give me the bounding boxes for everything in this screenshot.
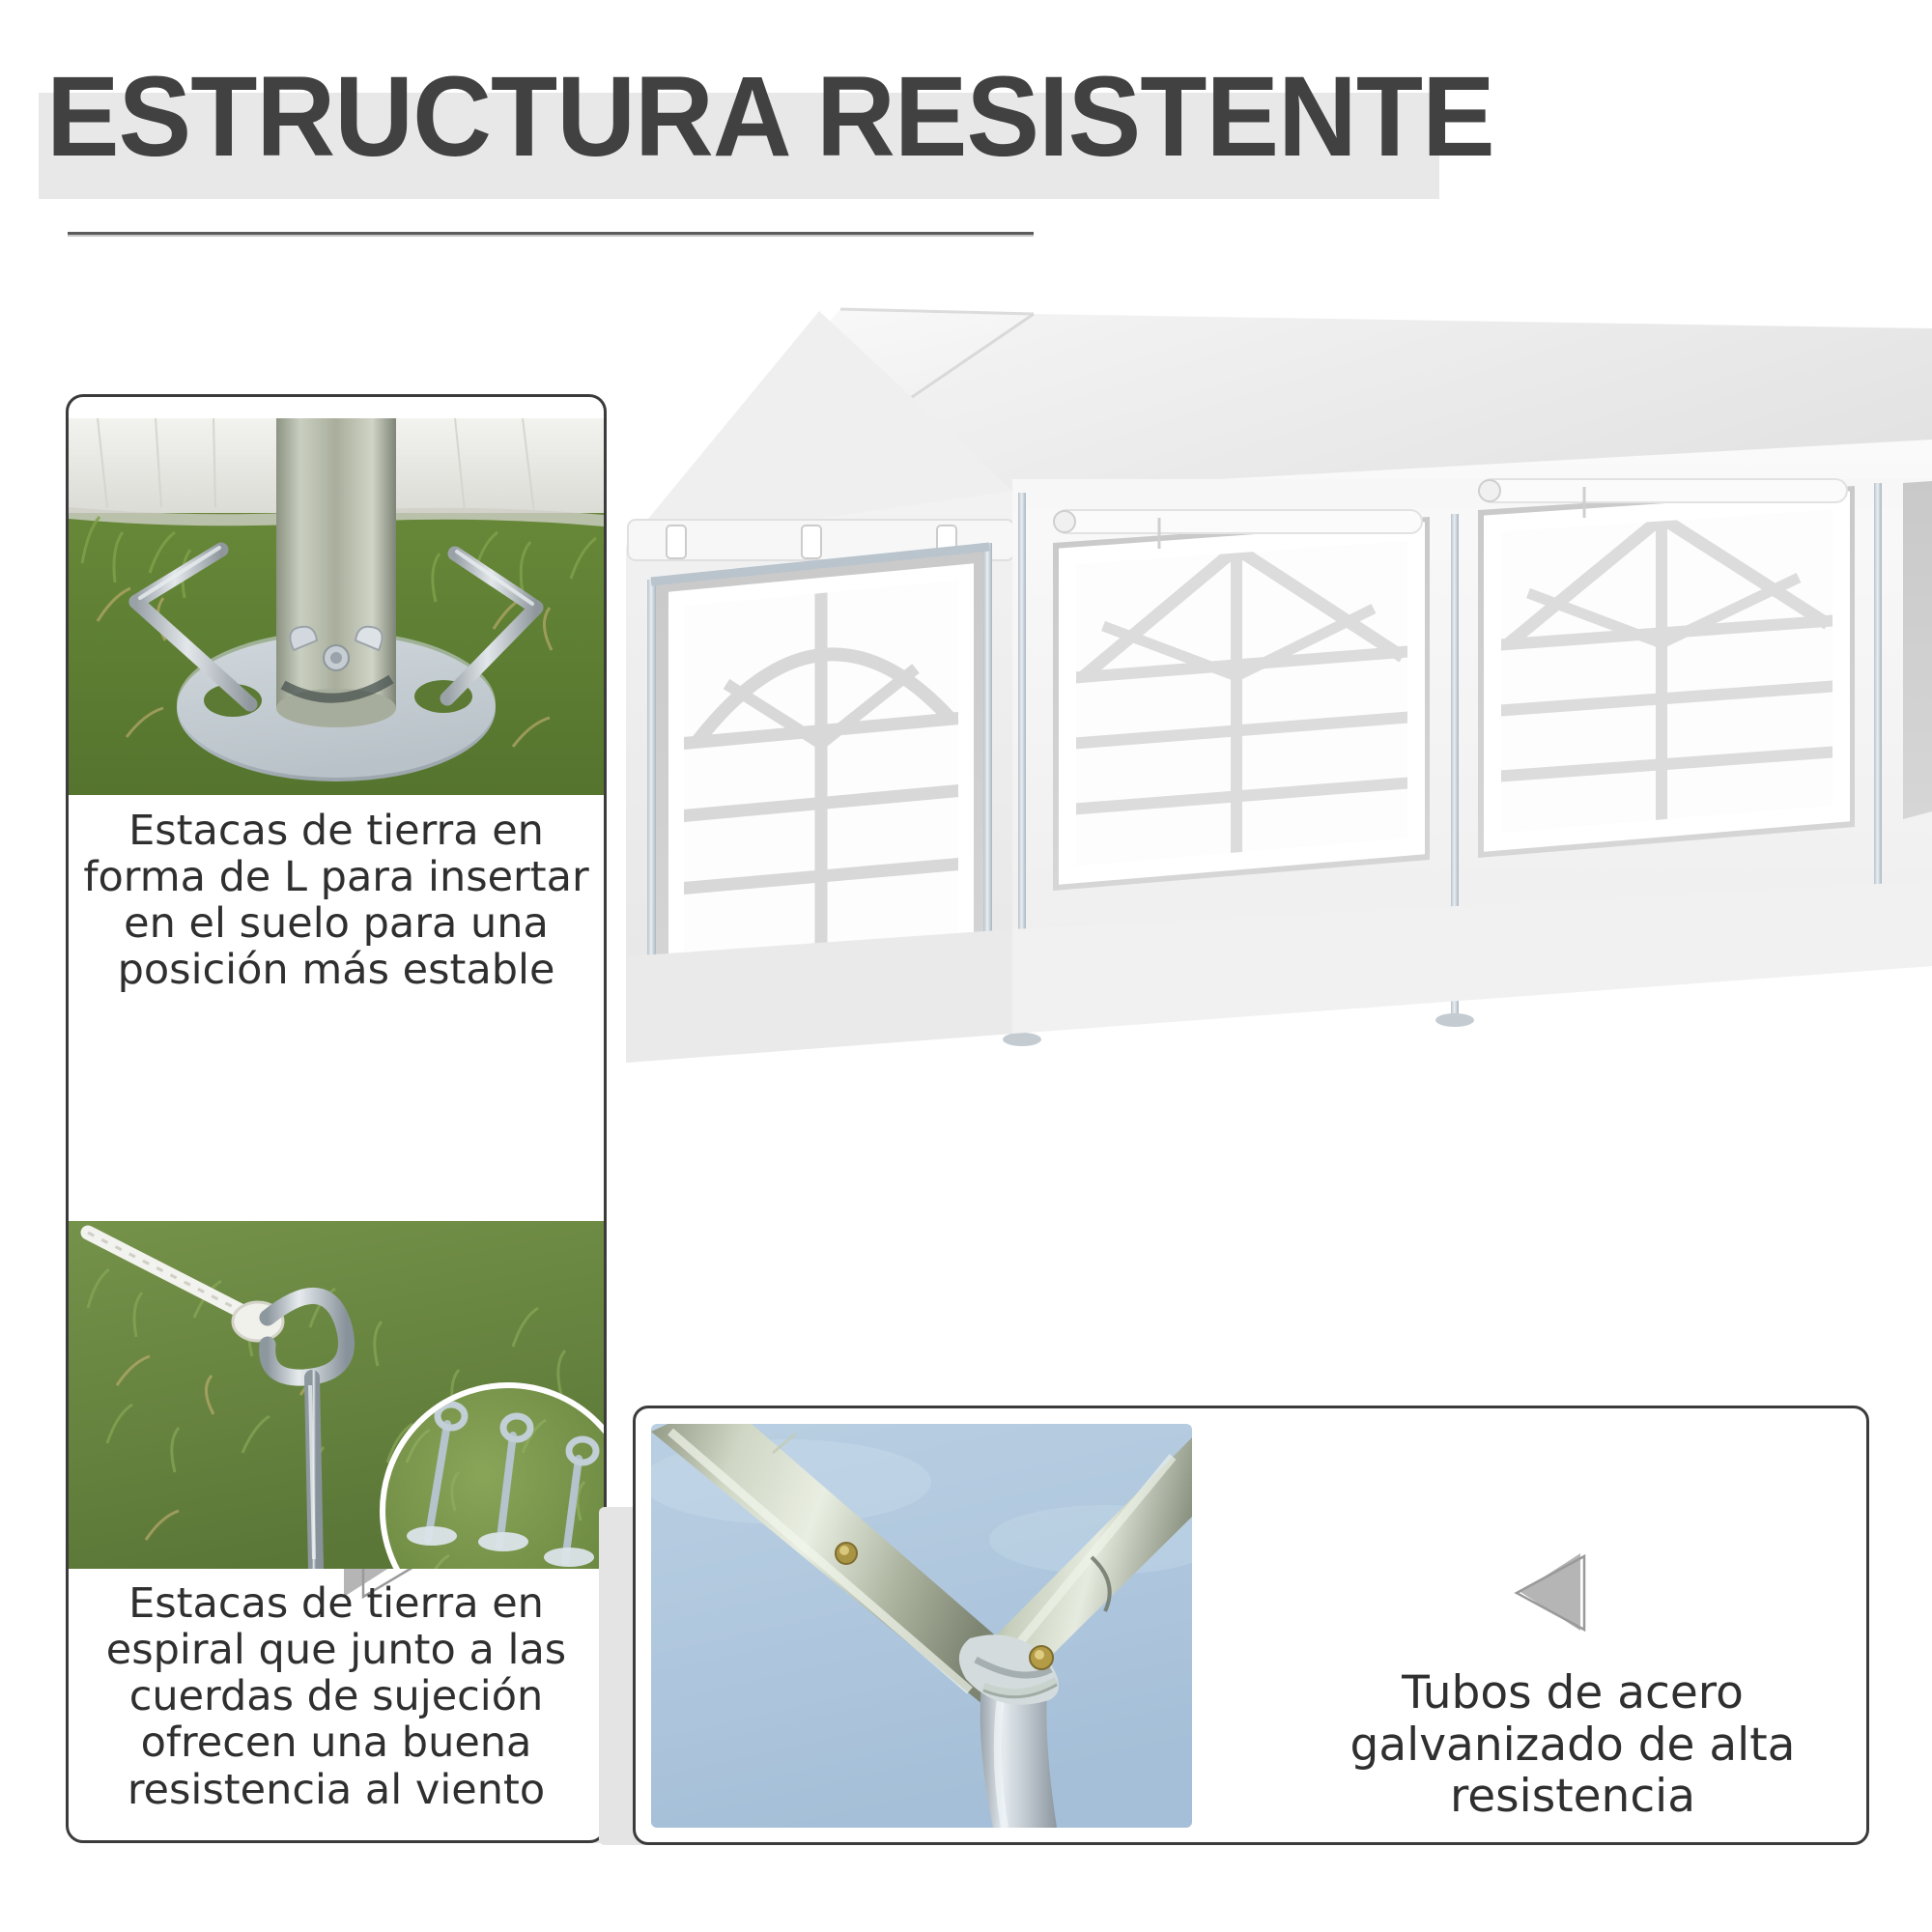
feature-caption-3: Tubos de acero galvanizado de alta resis… <box>1293 1667 1853 1823</box>
feature-caption-1: Estacas de tierra en forma de L para ins… <box>78 808 594 994</box>
feature-caption-2: Estacas de tierra en espiral que junto a… <box>78 1580 594 1813</box>
galvanized-steel-joint-photo <box>651 1424 1192 1828</box>
l-shaped-ground-stake-photo <box>69 418 604 795</box>
triangle-left-icon <box>1505 1553 1592 1633</box>
title-divider <box>68 232 1034 235</box>
spiral-ground-stake-photo <box>69 1221 604 1569</box>
left-feature-panel: Estacas de tierra en forma de L para ins… <box>66 394 607 1843</box>
product-image <box>618 290 1932 1410</box>
infographic-root: ESTRUCTURA RESISTENTE <box>0 0 1932 1932</box>
page-title: ESTRUCTURA RESISTENTE <box>46 60 1494 174</box>
bottom-right-feature-panel: Tubos de acero galvanizado de alta resis… <box>633 1406 1869 1845</box>
